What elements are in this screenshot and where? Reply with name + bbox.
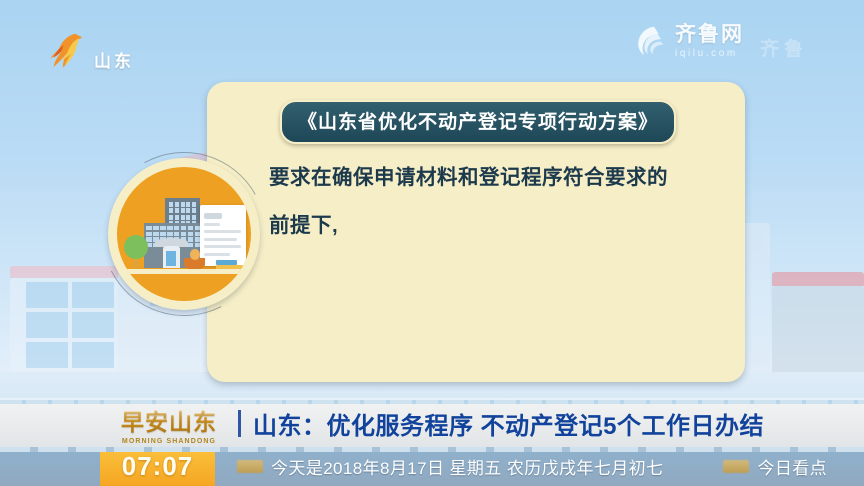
document-body-text: 要求在确保申请材料和登记程序符合要求的 前提下, xyxy=(269,154,719,250)
news-ticker-bar: 07:07 今天是2018年8月17日 星期五 农历戊戌年七月初七 今日看点 xyxy=(0,447,864,486)
ghost-watermark: 齐鲁 xyxy=(760,34,808,61)
clock-display: 07:07 xyxy=(100,447,215,486)
shandong-flame-icon xyxy=(42,28,88,74)
headline-divider xyxy=(238,410,241,437)
program-logo: 早安山东 MORNING SHANDONG xyxy=(110,404,228,444)
ticker-items: 今天是2018年8月17日 星期五 农历戊戌年七月初七 今日看点 xyxy=(215,454,827,479)
ticker-item: 今天是2018年8月17日 星期五 农历戊戌年七月初七 xyxy=(237,454,663,479)
government-building-document-illustration xyxy=(117,167,251,301)
channel-logo-label: 山东 xyxy=(94,47,134,74)
ticker-top-stripe xyxy=(0,447,864,452)
iqilu-swirl-icon xyxy=(630,22,668,60)
channel-logo: 山东 xyxy=(42,28,134,74)
body-line-1: 要求在确保申请材料和登记程序符合要求的 xyxy=(269,154,719,202)
content-card: 《山东省优化不动产登记专项行动方案》 要求在确保申请材料和登记程序符合要求的 前… xyxy=(207,82,745,382)
document-sheet-icon xyxy=(200,205,246,267)
body-line-2: 前提下, xyxy=(269,202,719,250)
iqilu-watermark-en: iqilu.com xyxy=(675,49,744,59)
news-headline: 山东：优化服务程序 不动产登记5个工作日办结 xyxy=(253,406,764,441)
ticker-item-label: 今日看点 xyxy=(757,454,827,479)
program-name-cn: 早安山东 xyxy=(121,403,217,437)
broadcast-screen: 山东 齐鲁网 iqilu.com 齐鲁 《山东省优化不动产登记专项行动方案》 要… xyxy=(0,0,864,486)
ticker-bullet-icon xyxy=(723,460,749,473)
ticker-item: 今日看点 xyxy=(723,454,827,479)
document-title-badge: 《山东省优化不动产登记专项行动方案》 xyxy=(280,100,676,144)
program-name-en: MORNING SHANDONG xyxy=(122,438,216,445)
entrance-door-icon xyxy=(163,246,180,267)
lower-third-headline-bar: 早安山东 MORNING SHANDONG 山东：优化服务程序 不动产登记5个工… xyxy=(0,400,864,447)
illustration-medallion xyxy=(108,158,260,310)
ticker-item-label: 今天是2018年8月17日 星期五 农历戊戌年七月初七 xyxy=(271,454,663,479)
ticker-bullet-icon xyxy=(237,460,263,473)
tree-icon xyxy=(133,251,138,267)
iqilu-watermark-cn: 齐鲁网 xyxy=(675,24,744,45)
ground-line xyxy=(125,269,246,274)
iqilu-watermark: 齐鲁网 iqilu.com xyxy=(630,22,744,60)
